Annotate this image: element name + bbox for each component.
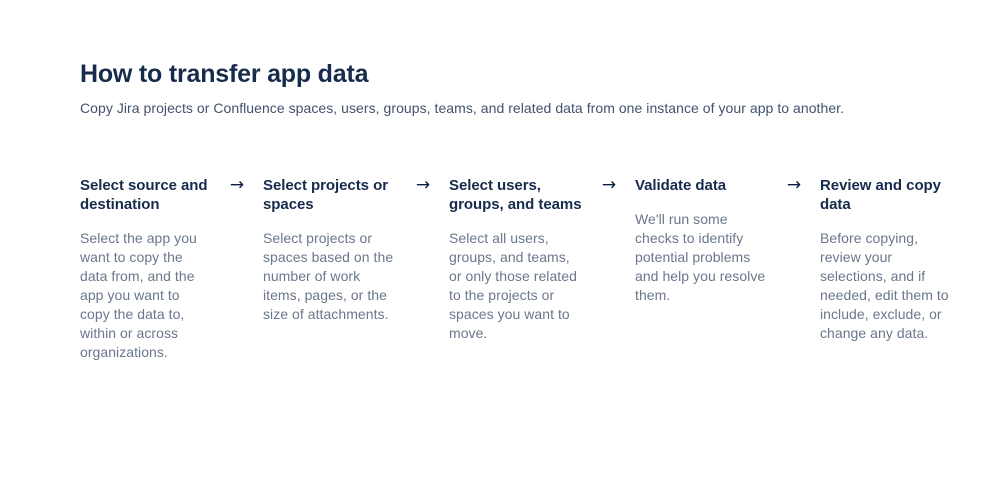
- step-item-validate-data: Validate data We'll run some checks to i…: [635, 176, 768, 305]
- page-subtitle: Copy Jira projects or Confluence spaces,…: [80, 98, 919, 118]
- step-description: Before copying, review your selections, …: [820, 229, 954, 343]
- step-item-select-users-groups-and-teams: Select users, groups, and teams Select a…: [449, 176, 583, 343]
- step-description: We'll run some checks to identify potent…: [635, 210, 768, 305]
- steps-row: Select source and destination Select the…: [80, 176, 919, 362]
- step-item-select-projects-or-spaces: Select projects or spaces Select project…: [263, 176, 397, 324]
- page-title: How to transfer app data: [80, 58, 919, 90]
- step-title: Review and copy data: [820, 176, 954, 214]
- step-description: Select projects or spaces based on the n…: [263, 229, 397, 324]
- step-title: Select users, groups, and teams: [449, 176, 583, 214]
- step-title: Validate data: [635, 176, 768, 195]
- arrow-right-icon: →: [583, 176, 635, 195]
- arrow-right-icon: →: [768, 176, 820, 195]
- arrow-right-icon: →: [211, 176, 263, 195]
- page-header: How to transfer app data Copy Jira proje…: [80, 0, 919, 118]
- step-description: Select the app you want to copy the data…: [80, 229, 211, 362]
- step-title: Select projects or spaces: [263, 176, 397, 214]
- step-item-select-source-and-destination: Select source and destination Select the…: [80, 176, 211, 362]
- step-description: Select all users, groups, and teams, or …: [449, 229, 583, 343]
- step-title: Select source and destination: [80, 176, 211, 214]
- step-item-review-and-copy-data: Review and copy data Before copying, rev…: [820, 176, 954, 343]
- page-root: How to transfer app data Copy Jira proje…: [0, 0, 999, 490]
- arrow-right-icon: →: [397, 176, 449, 195]
